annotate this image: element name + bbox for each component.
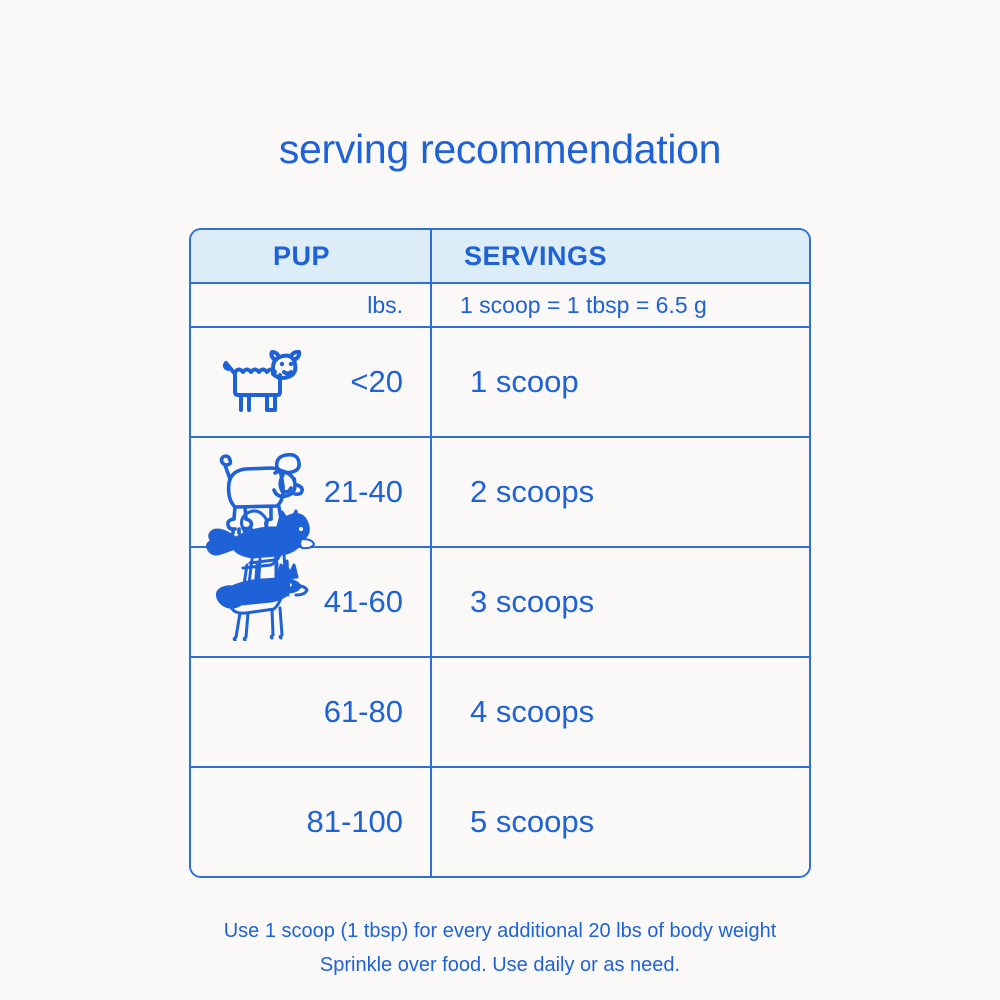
pup-cell: 61-80 <box>191 658 432 766</box>
servings-cell: 4 scoops <box>432 658 809 766</box>
table-row: 61-80 4 scoops <box>191 656 809 766</box>
pup-cell: <20 <box>191 328 432 436</box>
units-label-scoop-equivalence: 1 scoop = 1 tbsp = 6.5 g <box>432 292 809 319</box>
page-title: serving recommendation <box>0 126 1000 173</box>
weight-label: 61-80 <box>191 694 430 730</box>
column-header-servings: SERVINGS <box>432 241 809 272</box>
serving-table: PUP SERVINGS lbs. 1 scoop = 1 tbsp = 6.5… <box>189 228 811 878</box>
units-cell-servings: 1 scoop = 1 tbsp = 6.5 g <box>432 284 809 326</box>
servings-label: 4 scoops <box>432 694 809 730</box>
servings-cell: 2 scoops <box>432 438 809 546</box>
servings-label: 5 scoops <box>432 804 809 840</box>
footer-line-2: Sprinkle over food. Use daily or as need… <box>0 948 1000 982</box>
units-cell-pup: lbs. <box>191 284 432 326</box>
table-units-row: lbs. 1 scoop = 1 tbsp = 6.5 g <box>191 282 809 326</box>
table-row: <20 1 scoop <box>191 326 809 436</box>
header-cell-pup: PUP <box>191 230 432 282</box>
servings-label: 1 scoop <box>432 364 809 400</box>
servings-cell: 3 scoops <box>432 548 809 656</box>
servings-cell: 5 scoops <box>432 768 809 876</box>
units-label-lbs: lbs. <box>191 292 430 319</box>
weight-label: <20 <box>191 364 430 400</box>
header-cell-servings: SERVINGS <box>432 230 809 282</box>
weight-label: 81-100 <box>191 804 430 840</box>
weight-label: 21-40 <box>191 474 430 510</box>
servings-label: 3 scoops <box>432 584 809 620</box>
footer-note: Use 1 scoop (1 tbsp) for every additiona… <box>0 914 1000 982</box>
servings-label: 2 scoops <box>432 474 809 510</box>
footer-line-1: Use 1 scoop (1 tbsp) for every additiona… <box>0 914 1000 948</box>
pup-cell: 81-100 <box>191 768 432 876</box>
column-header-pup: PUP <box>191 241 430 272</box>
servings-cell: 1 scoop <box>432 328 809 436</box>
table-row: 81-100 5 scoops <box>191 766 809 876</box>
weight-label: 41-60 <box>191 584 430 620</box>
table-header-row: PUP SERVINGS <box>191 230 809 282</box>
serving-recommendation-card: serving recommendation PUP SERVINGS lbs.… <box>0 0 1000 1000</box>
